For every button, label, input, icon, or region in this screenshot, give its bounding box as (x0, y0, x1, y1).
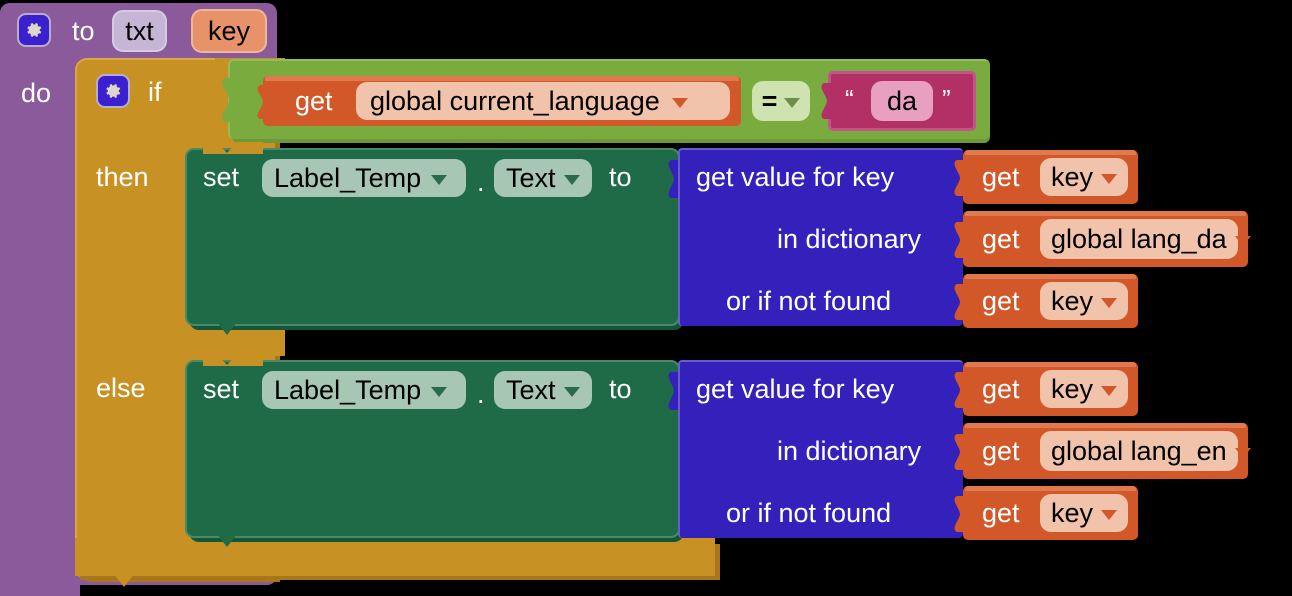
to-label-else: to (609, 376, 632, 403)
setter-value-socket-icon (661, 160, 679, 198)
comparison-left-plug-icon (215, 78, 235, 122)
dict-row3-label-else: or if not found (726, 500, 891, 527)
get-block-highlight (965, 211, 1246, 216)
get-label: get (982, 226, 1020, 253)
if-bottom-bar-2 (75, 538, 715, 576)
open-quote: “ (845, 86, 854, 112)
variable-dropdown-key-else-1[interactable]: key (1040, 370, 1128, 408)
variable-name-text: global current_language (370, 86, 660, 117)
dict-row1-label-else: get value for key (696, 376, 894, 403)
variable-name-text: global lang_en (1051, 436, 1227, 467)
chevron-down-icon (784, 98, 800, 108)
procedure-name-text: txt (125, 16, 154, 47)
chevron-down-icon (1101, 510, 1117, 520)
chevron-down-icon (1235, 448, 1251, 458)
get-block-highlight (965, 274, 1136, 279)
then-label: then (96, 164, 149, 191)
procedure-parameter-key[interactable]: key (191, 9, 267, 53)
procedure-to-label: to (72, 18, 95, 45)
get-left-plug-icon (948, 222, 966, 258)
operator-symbol: = (762, 86, 778, 117)
variable-dropdown-global-lang-da[interactable]: global lang_da (1040, 219, 1238, 259)
get-label: get (982, 500, 1020, 527)
get-label: get (982, 438, 1020, 465)
variable-name-text: key (1051, 374, 1093, 405)
text-block-left-plug-icon (816, 83, 832, 119)
variable-name-text: key (1051, 286, 1093, 317)
gear-icon[interactable] (96, 74, 130, 108)
get-left-plug-icon (948, 160, 966, 196)
variable-dropdown-key-then-2[interactable]: key (1040, 282, 1128, 320)
variable-name-text: global lang_da (1051, 224, 1227, 255)
procedure-parameter-label: key (208, 16, 250, 47)
chevron-down-icon (672, 98, 688, 108)
chevron-down-icon (431, 175, 447, 185)
get-block-highlight (965, 150, 1136, 155)
get-block-highlight (265, 76, 739, 81)
get-block-highlight (965, 362, 1136, 367)
get-block-highlight (965, 423, 1246, 428)
component-name-text: Label_Temp (274, 375, 421, 406)
get-label: get (295, 88, 333, 115)
property-name-text: Text (506, 163, 556, 194)
else-label: else (96, 375, 146, 402)
variable-name-text: key (1051, 498, 1093, 529)
chevron-down-icon (1101, 298, 1117, 308)
get-label: get (982, 164, 1020, 191)
chevron-down-icon (564, 387, 580, 397)
component-dropdown-then[interactable]: Label_Temp (262, 159, 466, 197)
procedure-name-field[interactable]: txt (112, 10, 167, 52)
get-left-plug-icon (948, 434, 966, 470)
variable-dropdown-global-lang-en[interactable]: global lang_en (1040, 431, 1238, 471)
dict-row2-label-then: in dictionary (777, 226, 921, 253)
setter-value-socket-icon (661, 372, 679, 410)
dot-separator-then: . (477, 169, 485, 196)
setter-top-notch-icon (203, 140, 263, 154)
dict-row2-label-else: in dictionary (777, 438, 921, 465)
get-block-highlight (965, 486, 1136, 491)
component-name-text: Label_Temp (274, 163, 421, 194)
close-quote: ” (942, 86, 951, 112)
set-label-else: set (203, 376, 239, 403)
chevron-down-icon (1235, 236, 1251, 246)
chevron-down-icon (1101, 174, 1117, 184)
dot-separator-else: . (477, 381, 485, 408)
property-dropdown-else[interactable]: Text (494, 371, 592, 409)
if-bottom-notch (100, 574, 160, 590)
set-label-then: set (203, 164, 239, 191)
get-label: get (982, 376, 1020, 403)
setter-top-notch-icon (203, 352, 263, 366)
setter-bottom-notch-icon (203, 322, 263, 338)
text-value: da (887, 86, 917, 117)
component-dropdown-else[interactable]: Label_Temp (262, 371, 466, 409)
variable-dropdown-key-else-2[interactable]: key (1040, 494, 1128, 532)
chevron-down-icon (564, 175, 580, 185)
dict-row3-label-then: or if not found (726, 288, 891, 315)
gear-icon[interactable] (17, 13, 51, 47)
variable-dropdown-key-then-1[interactable]: key (1040, 158, 1128, 196)
chevron-down-icon (1101, 386, 1117, 396)
get-left-plug-icon (948, 496, 966, 532)
blocks-editor-canvas: to txt key do if then else (0, 0, 1292, 596)
get-left-plug-icon (252, 85, 268, 119)
procedure-do-label: do (21, 80, 51, 107)
property-name-text: Text (506, 375, 556, 406)
if-label: if (148, 79, 162, 106)
get-left-plug-icon (948, 284, 966, 320)
to-label-then: to (609, 164, 632, 191)
operator-dropdown-equals[interactable]: = (752, 81, 810, 121)
property-dropdown-then[interactable]: Text (494, 159, 592, 197)
procedure-left-column (0, 58, 80, 596)
chevron-down-icon (431, 387, 447, 397)
setter-bottom-notch-icon (203, 534, 263, 550)
variable-name-text: key (1051, 162, 1093, 193)
variable-dropdown-current-language[interactable]: global current_language (356, 82, 730, 120)
get-left-plug-icon (948, 372, 966, 408)
text-value-field[interactable]: da (871, 81, 933, 121)
dict-row1-label-then: get value for key (696, 164, 894, 191)
get-label: get (982, 288, 1020, 315)
